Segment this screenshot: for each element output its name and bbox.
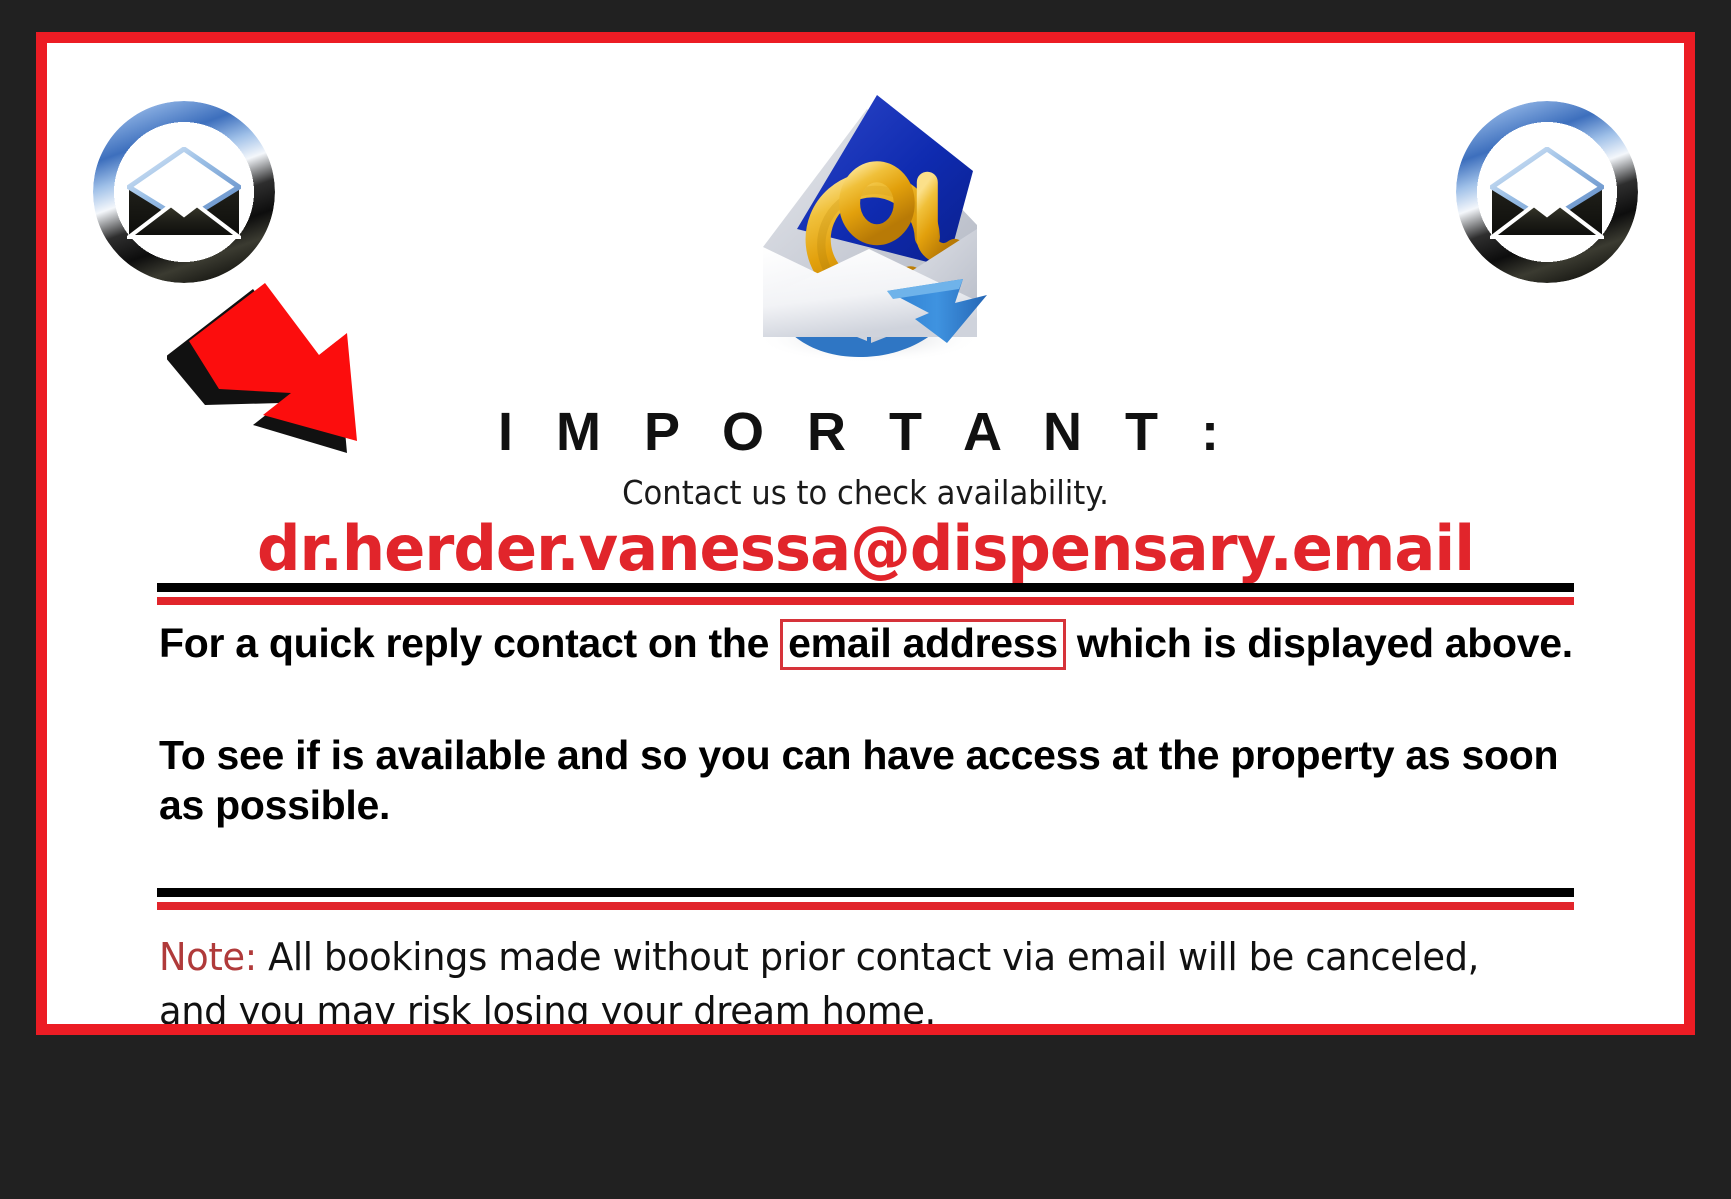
divider-bottom — [157, 888, 1574, 910]
open-envelope-icon — [127, 147, 241, 239]
paragraph-2: To see if is available and so you can ha… — [159, 730, 1584, 830]
divider-black-bar — [157, 583, 1574, 592]
email-address-highlight-box: email address — [780, 619, 1066, 670]
divider-red-bar — [157, 597, 1574, 605]
subheadline: Contact us to check availability. — [104, 475, 1626, 511]
envelope-ring-icon-left — [93, 101, 275, 283]
divider-top — [157, 583, 1574, 605]
note-block: Note: All bookings made without prior co… — [159, 931, 1545, 1024]
red-down-right-arrow-icon — [167, 275, 437, 500]
envelope-ring-icon-right — [1456, 101, 1638, 283]
paragraph-1-text-after: which is displayed above. — [1066, 620, 1573, 666]
page-title: I M P O R T A N T : — [47, 405, 1684, 459]
divider-black-bar — [157, 888, 1574, 897]
body-text-block: For a quick reply contact on the email a… — [159, 618, 1584, 830]
poster-frame: I M P O R T A N T : Contact us to check … — [36, 32, 1695, 1035]
poster-card: I M P O R T A N T : Contact us to check … — [47, 43, 1684, 1024]
note-label: Note: — [159, 935, 257, 979]
at-symbol-envelope-icon — [701, 51, 1031, 371]
open-envelope-icon — [1490, 147, 1604, 239]
note-text: All bookings made without prior contact … — [159, 935, 1479, 1024]
paragraph-1-text-before: For a quick reply contact on the — [159, 620, 780, 666]
email-address[interactable]: dr.herder.vanessa@dispensary.email — [63, 516, 1667, 581]
divider-red-bar — [157, 902, 1574, 910]
paragraph-1: For a quick reply contact on the email a… — [159, 618, 1584, 670]
